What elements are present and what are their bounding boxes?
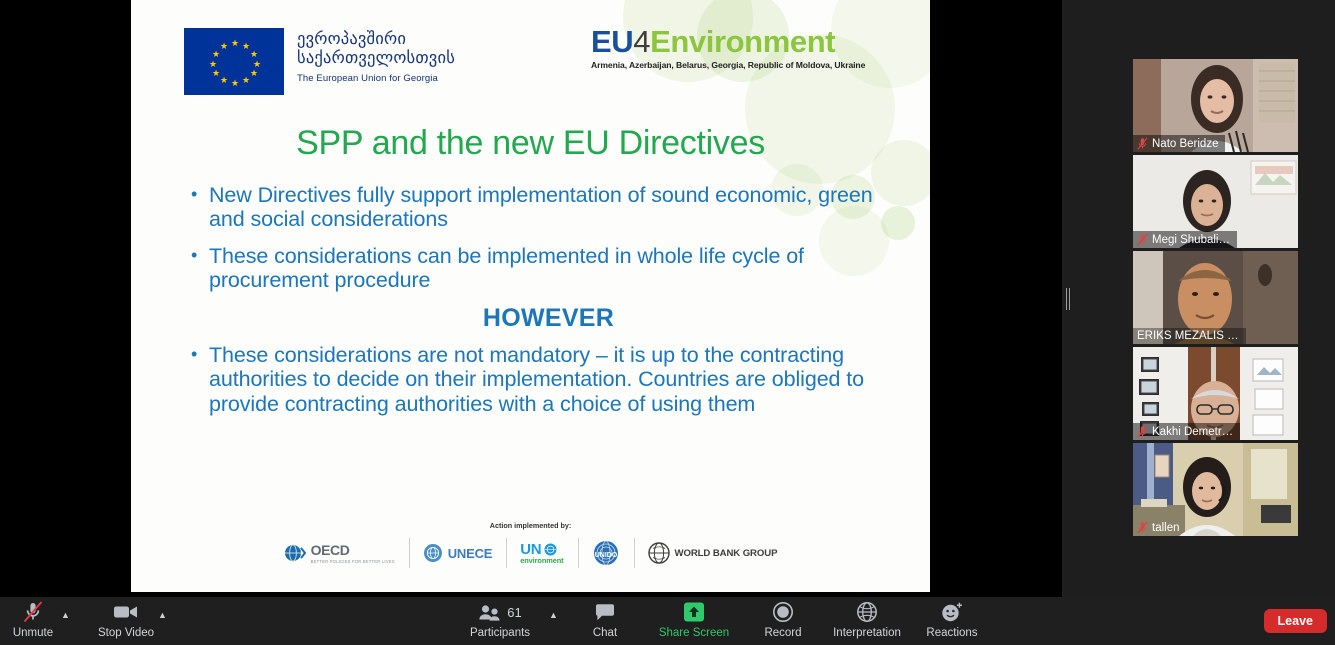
toolbar-label-record: Record [764, 627, 801, 639]
toolbar-button-reactions[interactable]: Reactions [909, 600, 995, 639]
eu-logo-georgian-line1: ევროპავშირი [297, 30, 455, 49]
eu4env-eu: EU [591, 24, 633, 59]
svg-text:UNIDO: UNIDO [594, 552, 617, 559]
toolbar-button-share-screen[interactable]: Share Screen [651, 600, 737, 639]
eu-logo-text: ევროპავშირი საქართველოსთვის The European… [297, 28, 455, 84]
unece-emblem-icon [423, 543, 443, 563]
shared-screen-stage: ★ ★ ★ ★ ★ ★ ★ ★ ★ ★ ★ ★ ევროპავშირ [0, 0, 1062, 597]
oecd-globe-icon [284, 542, 306, 564]
toolbar-button-chat[interactable]: Chat [562, 600, 648, 639]
un-environment-emblem-icon [544, 543, 557, 556]
oecd-tagline: BETTER POLICIES FOR BETTER LIVES [311, 559, 395, 564]
slide-header: ★ ★ ★ ★ ★ ★ ★ ★ ★ ★ ★ ★ ევროპავშირ [131, 0, 930, 108]
toolbar-button-interpretation[interactable]: Interpretation [824, 600, 910, 639]
toolbar-label-share-screen: Share Screen [659, 627, 729, 639]
participant-name-chip: tallen [1133, 519, 1187, 536]
microphone-muted-icon [1137, 425, 1148, 438]
microphone-muted-icon [1137, 521, 1148, 534]
eu-logo-english: The European Union for Georgia [297, 73, 455, 84]
bullet-item: • These considerations are not mandatory… [191, 343, 906, 416]
un-environment-logo: UN environment [506, 536, 577, 570]
slide-title: SPP and the new EU Directives [131, 124, 930, 163]
eu-logo: ★ ★ ★ ★ ★ ★ ★ ★ ★ ★ ★ ★ ევროპავშირ [184, 28, 455, 95]
un-environment-word: environment [520, 557, 563, 564]
oecd-name: OECD [311, 542, 395, 558]
toolbar-button-stop-video[interactable]: Stop Video [83, 600, 169, 639]
zoom-meeting-window: ★ ★ ★ ★ ★ ★ ★ ★ ★ ★ ★ ★ ევროპავშირ [0, 0, 1335, 645]
globe-icon [856, 600, 878, 624]
audio-options-caret-icon[interactable]: ▲ [61, 610, 70, 620]
video-tile-active-speaker[interactable]: ERIKS MEZALIS … [1133, 251, 1298, 344]
unido-logo: UNIDO [578, 536, 634, 570]
toolbar-label-participants: Participants [470, 627, 530, 639]
implemented-by-label: Action implemented by: [131, 521, 930, 530]
microphone-muted-icon [22, 600, 44, 624]
partner-logos: OECD BETTER POLICIES FOR BETTER LIVES UN… [131, 536, 930, 570]
share-screen-up-arrow-icon [680, 600, 708, 624]
leave-meeting-button[interactable]: Leave [1264, 609, 1327, 633]
meeting-toolbar: Unmute ▲ Stop Video ▲ 61 [0, 597, 1335, 645]
participant-name: Kakhi Demetr… [1152, 426, 1233, 438]
eu4environment-logo: EU4Environment Armenia, Azerbaijan, Bela… [591, 26, 865, 70]
participants-options-caret-icon[interactable]: ▲ [549, 610, 558, 620]
video-tile[interactable]: Nato Beridze [1133, 59, 1298, 152]
toolbar-label-reactions: Reactions [926, 627, 977, 639]
record-circle-icon [772, 600, 794, 624]
toolbar-label-unmute: Unmute [13, 627, 53, 639]
toolbar-button-participants[interactable]: 61 Participants [457, 600, 543, 639]
bullet-item: • New Directives fully support implement… [191, 183, 906, 232]
people-icon: 61 [478, 600, 521, 624]
participant-name-chip: Megi Shubali… [1133, 231, 1237, 248]
bullet-dot-icon: • [191, 183, 209, 232]
unece-logo: UNECE [409, 536, 507, 570]
chat-bubble-icon [594, 600, 616, 624]
eu-flag-icon: ★ ★ ★ ★ ★ ★ ★ ★ ★ ★ ★ ★ [184, 28, 284, 95]
world-bank-name: WORLD BANK GROUP [675, 548, 778, 559]
eu-logo-georgian-line2: საქართველოსთვის [297, 49, 455, 68]
microphone-muted-icon [1137, 233, 1148, 246]
panel-divider[interactable] [1062, 0, 1076, 597]
participants-count-badge: 61 [507, 605, 521, 620]
bullet-text: These considerations can be implemented … [209, 244, 906, 293]
participant-name: tallen [1152, 522, 1180, 534]
eu4env-four: 4 [633, 24, 650, 59]
slide-emphasis-text: HOWEVER [191, 304, 906, 333]
video-tile[interactable]: Kakhi Demetr… [1133, 347, 1298, 440]
world-bank-globe-icon [648, 542, 670, 564]
participant-name-chip: Nato Beridze [1133, 135, 1225, 152]
participant-name-chip: Kakhi Demetr… [1133, 423, 1240, 440]
bullet-dot-icon: • [191, 343, 209, 416]
participant-name: Nato Beridze [1152, 138, 1218, 150]
divider-grip-icon[interactable] [1066, 288, 1072, 310]
world-bank-group-logo: WORLD BANK GROUP [634, 536, 792, 570]
bullet-text: New Directives fully support implementat… [209, 183, 906, 232]
participant-name: Megi Shubali… [1152, 234, 1230, 246]
slide-body: • New Directives fully support implement… [191, 183, 906, 428]
video-options-caret-icon[interactable]: ▲ [158, 610, 167, 620]
un-environment-un: UN [520, 542, 541, 557]
bullet-item: • These considerations can be implemente… [191, 244, 906, 293]
eu4env-countries: Armenia, Azerbaijan, Belarus, Georgia, R… [591, 60, 865, 70]
toolbar-label-interpretation: Interpretation [833, 627, 901, 639]
unece-name: UNECE [448, 546, 493, 561]
participant-name: ERIKS MEZALIS … [1137, 330, 1239, 342]
oecd-logo: OECD BETTER POLICIES FOR BETTER LIVES [270, 536, 409, 570]
bullet-dot-icon: • [191, 244, 209, 293]
camera-icon [113, 600, 139, 624]
eu4env-environment: Environment [650, 24, 835, 59]
video-tile[interactable]: Megi Shubali… [1133, 155, 1298, 248]
bullet-text: These considerations are not mandatory –… [209, 343, 906, 416]
toolbar-label-stop-video: Stop Video [98, 627, 154, 639]
participant-name-chip: ERIKS MEZALIS … [1133, 328, 1246, 344]
toolbar-button-record[interactable]: Record [740, 600, 826, 639]
video-tile[interactable]: tallen [1133, 443, 1298, 536]
presentation-slide: ★ ★ ★ ★ ★ ★ ★ ★ ★ ★ ★ ★ ევროპავშირ [131, 0, 930, 592]
participants-filmstrip: Nato Beridze [1076, 0, 1335, 597]
smiley-plus-icon [940, 600, 964, 624]
toolbar-label-chat: Chat [593, 627, 617, 639]
microphone-muted-icon [1137, 137, 1148, 150]
slide-footer: Action implemented by: OECD BETTER POLIC… [131, 521, 930, 570]
unido-emblem-icon: UNIDO [592, 540, 620, 566]
